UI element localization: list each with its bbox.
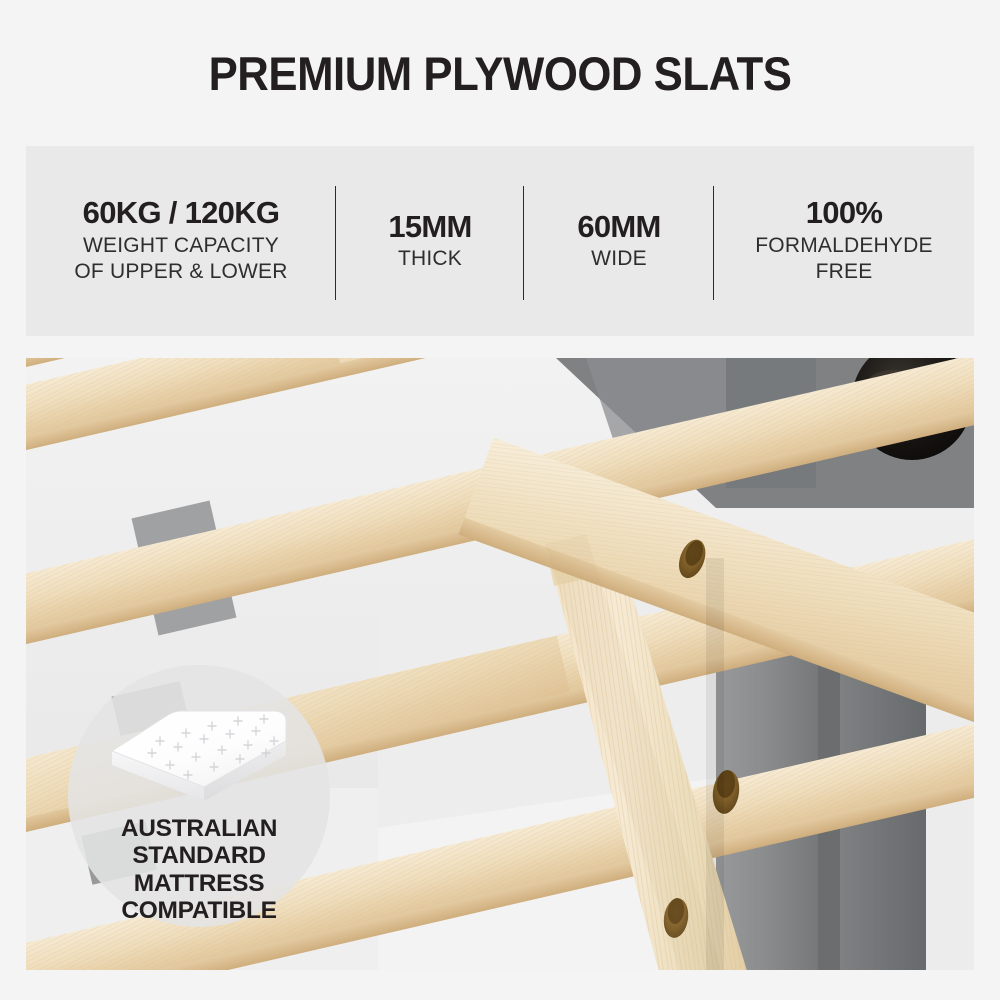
- badge-line-4: COMPATIBLE: [121, 897, 277, 924]
- spec-item-thickness: 15MM THICK: [336, 146, 524, 336]
- page-title: PREMIUM PLYWOOD SLATS: [35, 50, 965, 97]
- spec-item-weight-capacity: 60KG / 120KG WEIGHT CAPACITY OF UPPER & …: [26, 146, 336, 336]
- spec-label: WIDE: [591, 247, 647, 272]
- badge-line-3: MATTRESS: [121, 870, 277, 897]
- spec-panel: 60KG / 120KG WEIGHT CAPACITY OF UPPER & …: [26, 146, 974, 336]
- spec-label-line2: FREE: [755, 259, 932, 285]
- spec-label-line1: WEIGHT CAPACITY: [74, 233, 287, 259]
- product-infographic: PREMIUM PLYWOOD SLATS 60KG / 120KG WEIGH…: [0, 0, 1000, 1000]
- mattress-compatible-badge: AUSTRALIAN STANDARD MATTRESS COMPATIBLE: [68, 665, 330, 927]
- badge-text: AUSTRALIAN STANDARD MATTRESS COMPATIBLE: [121, 815, 277, 925]
- spec-label-line1: WIDE: [591, 247, 647, 272]
- page-title-container: PREMIUM PLYWOOD SLATS: [0, 50, 1000, 97]
- spec-item-formaldehyde-free: 100% FORMALDEHYDE FREE: [714, 146, 974, 336]
- badge-line-2: STANDARD: [121, 842, 277, 869]
- spec-label: THICK: [398, 247, 462, 272]
- spec-item-width: 60MM WIDE: [524, 146, 714, 336]
- spec-value: 100%: [806, 197, 883, 230]
- spec-value: 60KG / 120KG: [83, 197, 280, 230]
- spec-value: 60MM: [577, 211, 660, 244]
- spec-label: FORMALDEHYDE FREE: [755, 233, 932, 284]
- mattress-icon: [104, 693, 294, 805]
- spec-label-line2: OF UPPER & LOWER: [74, 259, 287, 285]
- product-photo: AUSTRALIAN STANDARD MATTRESS COMPATIBLE: [26, 358, 974, 970]
- spec-label: WEIGHT CAPACITY OF UPPER & LOWER: [74, 233, 287, 284]
- spec-label-line1: FORMALDEHYDE: [755, 233, 932, 259]
- badge-line-1: AUSTRALIAN: [121, 815, 277, 842]
- spec-value: 15MM: [388, 211, 471, 244]
- spec-label-line1: THICK: [398, 247, 462, 272]
